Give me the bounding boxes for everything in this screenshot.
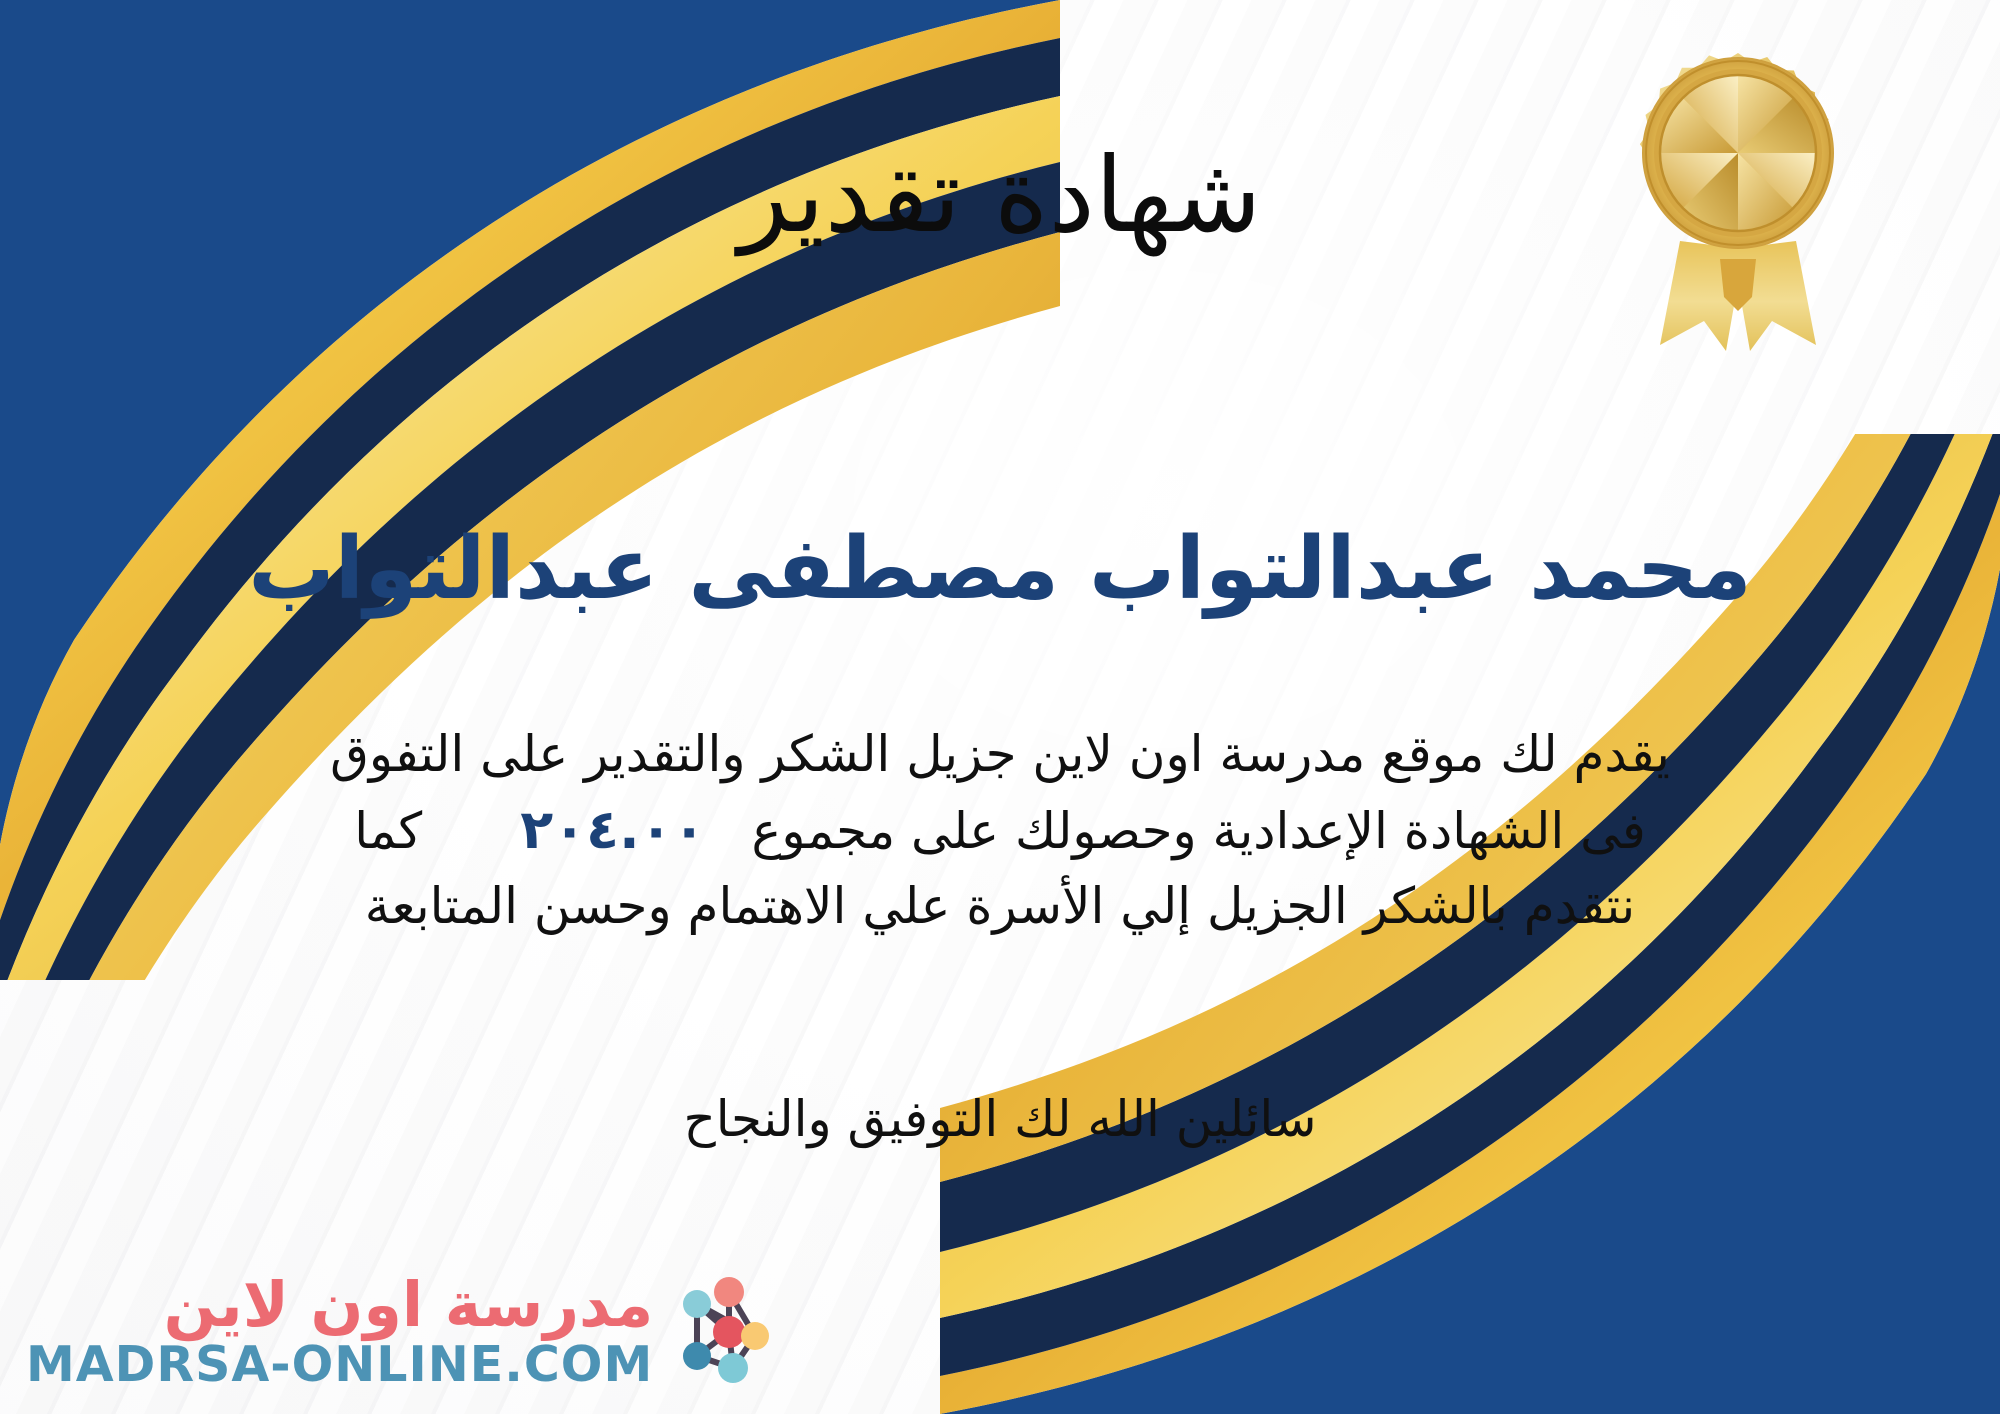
certificate-body-paragraph: يقدم لك موقع مدرسة اون لاين جزيل الشكر و… xyxy=(60,718,1940,943)
node-salmon xyxy=(714,1277,744,1307)
closing-line: سائلين الله لك التوفيق والنجاح xyxy=(0,1090,2000,1148)
node-dark-blue xyxy=(683,1342,711,1370)
body-line-2: فى الشهادة الإعدادية وحصولك على مجموع٢٠٤… xyxy=(60,791,1940,870)
recipient-name: محمد عبدالتواب مصطفى عبدالتواب xyxy=(0,520,2000,619)
body-line-2-tail: كما xyxy=(354,802,422,860)
brand-text-block: مدرسة اون لاين MADRSA-ONLINE.COM xyxy=(26,1274,653,1389)
network-nodes-icon xyxy=(667,1272,785,1390)
body-line-2-lead: فى الشهادة الإعدادية وحصولك على مجموع xyxy=(752,802,1646,860)
node-red xyxy=(713,1316,745,1348)
node-teal xyxy=(718,1353,748,1383)
brand-logo[interactable]: مدرسة اون لاين MADRSA-ONLINE.COM xyxy=(26,1272,785,1390)
node-light-teal xyxy=(683,1290,711,1318)
certificate-canvas: شهادة تقدير محمد عبدالتواب مصطفى عبدالتو… xyxy=(0,0,2000,1414)
node-yellow xyxy=(741,1322,769,1350)
certificate-title: شهادة تقدير xyxy=(0,138,2000,252)
brand-website-url: MADRSA-ONLINE.COM xyxy=(26,1340,653,1389)
body-line-1: يقدم لك موقع مدرسة اون لاين جزيل الشكر و… xyxy=(60,718,1940,791)
medal-ribbon-tails xyxy=(1660,241,1816,351)
body-line-3: نتقدم بالشكر الجزيل إلي الأسرة علي الاهت… xyxy=(60,870,1940,943)
brand-name-arabic: مدرسة اون لاين xyxy=(164,1274,654,1336)
grade-value: ٢٠٤.٠٠ xyxy=(474,798,751,861)
